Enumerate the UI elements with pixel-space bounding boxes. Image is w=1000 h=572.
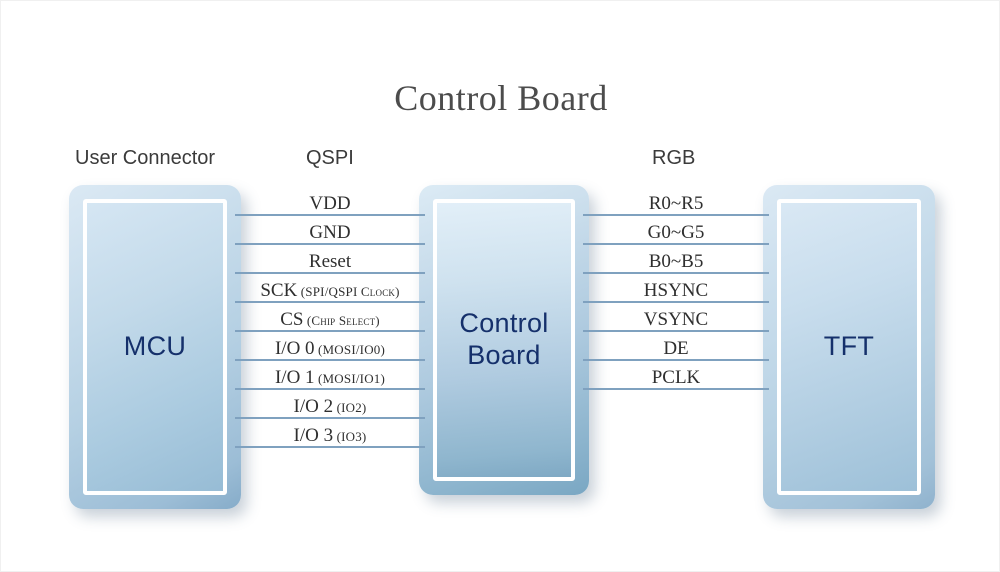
- signal-rgb-name: PCLK: [652, 367, 701, 388]
- signal-rgb-name: DE: [663, 338, 688, 359]
- page-title: Control Board: [1, 77, 1000, 119]
- chip-control-board-label: Control Board: [459, 308, 548, 372]
- chip-control-board-label-line1: Control: [459, 308, 548, 338]
- signal-qspi-label: SCK (SPI/QSPI Clock): [235, 281, 425, 300]
- signal-qspi-label: CS (Chip Select): [235, 310, 425, 329]
- signal-rgb-label: G0~G5: [583, 223, 769, 242]
- chip-control-board-label-line2: Board: [467, 340, 541, 370]
- chip-tft-label: TFT: [824, 331, 874, 363]
- signal-qspi-label: Reset: [235, 252, 425, 271]
- signal-rgb-row[interactable]: DE: [583, 332, 769, 361]
- signal-rgb-name: G0~G5: [648, 222, 705, 243]
- signal-qspi-name: I/O 0: [275, 338, 315, 359]
- chip-tft[interactable]: TFT: [763, 185, 935, 509]
- signal-qspi-label: I/O 3 (IO3): [235, 426, 425, 445]
- signal-rgb-label: B0~B5: [583, 252, 769, 271]
- signal-qspi-row[interactable]: I/O 2 (IO2): [235, 390, 425, 419]
- signal-qspi-label: I/O 2 (IO2): [235, 397, 425, 416]
- signal-rgb-name: HSYNC: [644, 280, 708, 301]
- signal-qspi-row[interactable]: I/O 3 (IO3): [235, 419, 425, 448]
- signal-qspi-label: GND: [235, 223, 425, 242]
- signal-rgb-row[interactable]: VSYNC: [583, 303, 769, 332]
- column-heading-rgb: RGB: [652, 147, 695, 170]
- signal-qspi-label: VDD: [235, 194, 425, 213]
- signal-qspi-note: (Chip Select): [303, 313, 379, 328]
- chip-control-board[interactable]: Control Board: [419, 185, 589, 495]
- signal-qspi-row[interactable]: SCK (SPI/QSPI Clock): [235, 274, 425, 303]
- signal-group-rgb: R0~R5G0~G5B0~B5HSYNCVSYNCDEPCLK: [583, 187, 769, 390]
- signal-qspi-note: (IO3): [333, 429, 366, 444]
- signal-qspi-name: GND: [309, 222, 350, 243]
- signal-rgb-label: VSYNC: [583, 310, 769, 329]
- chip-mcu-inner-border: MCU: [83, 199, 227, 495]
- signal-rgb-label: PCLK: [583, 368, 769, 387]
- signal-rgb-label: HSYNC: [583, 281, 769, 300]
- signal-rgb-name: B0~B5: [649, 251, 704, 272]
- signal-qspi-name: I/O 2: [294, 396, 334, 417]
- column-heading-qspi: QSPI: [306, 147, 354, 170]
- signal-rgb-name: VSYNC: [644, 309, 708, 330]
- signal-group-qspi: VDDGNDResetSCK (SPI/QSPI Clock)CS (Chip …: [235, 187, 425, 448]
- signal-qspi-row[interactable]: I/O 0 (MOSI/IO0): [235, 332, 425, 361]
- chip-tft-inner-border: TFT: [777, 199, 921, 495]
- signal-qspi-note: (MOSI/IO1): [315, 371, 385, 386]
- chip-mcu[interactable]: MCU: [69, 185, 241, 509]
- signal-qspi-row[interactable]: CS (Chip Select): [235, 303, 425, 332]
- chip-mcu-label: MCU: [124, 331, 186, 363]
- signal-qspi-name: I/O 3: [294, 425, 334, 446]
- signal-qspi-row[interactable]: GND: [235, 216, 425, 245]
- signal-qspi-note: (MOSI/IO0): [315, 342, 385, 357]
- diagram-canvas: Control Board User Connector QSPI RGB MC…: [0, 0, 1000, 572]
- signal-rgb-row[interactable]: B0~B5: [583, 245, 769, 274]
- signal-qspi-row[interactable]: I/O 1 (MOSI/IO1): [235, 361, 425, 390]
- chip-control-board-inner-border: Control Board: [433, 199, 575, 481]
- signal-qspi-note: (IO2): [333, 400, 366, 415]
- signal-rgb-row[interactable]: HSYNC: [583, 274, 769, 303]
- signal-qspi-note: (SPI/QSPI Clock): [297, 284, 399, 299]
- signal-rgb-row[interactable]: G0~G5: [583, 216, 769, 245]
- signal-qspi-name: Reset: [309, 251, 351, 272]
- signal-rgb-label: DE: [583, 339, 769, 358]
- signal-qspi-name: CS: [280, 309, 303, 330]
- signal-qspi-label: I/O 0 (MOSI/IO0): [235, 339, 425, 358]
- signal-rgb-row[interactable]: R0~R5: [583, 187, 769, 216]
- signal-qspi-label: I/O 1 (MOSI/IO1): [235, 368, 425, 387]
- signal-rgb-row[interactable]: PCLK: [583, 361, 769, 390]
- signal-qspi-name: I/O 1: [275, 367, 315, 388]
- signal-rgb-name: R0~R5: [649, 193, 704, 214]
- column-heading-user-connector: User Connector: [75, 147, 215, 170]
- signal-qspi-name: VDD: [309, 193, 350, 214]
- signal-qspi-row[interactable]: Reset: [235, 245, 425, 274]
- signal-qspi-row[interactable]: VDD: [235, 187, 425, 216]
- signal-rgb-label: R0~R5: [583, 194, 769, 213]
- signal-qspi-name: SCK: [260, 280, 297, 301]
